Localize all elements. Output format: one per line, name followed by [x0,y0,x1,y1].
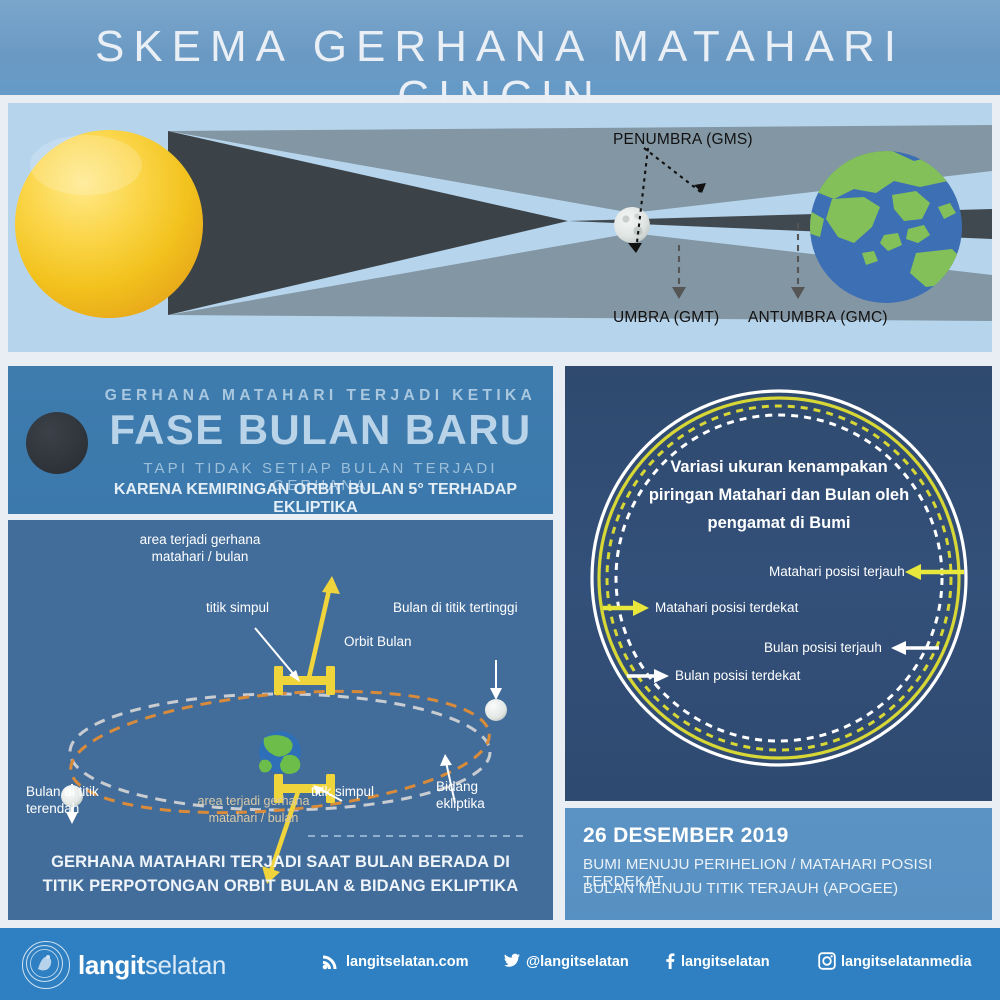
event-date-panel: 26 DESEMBER 2019 BUMI MENUJU PERIHELION … [565,808,992,920]
langitselatan-seal-logo [22,941,70,989]
new-moon-line-4: KARENA KEMIRINGAN ORBIT BULAN 5° TERHADA… [83,481,548,517]
footer-bar: langitselatan langitselatan.com @langits… [0,928,1000,1000]
label-moon-farthest: Bulan posisi terjauh [764,640,882,655]
brand-wordmark: langitselatan [78,950,226,981]
arrowhead-moon-farthest-icon [891,641,906,655]
earth-center-icon [259,731,301,774]
label-moon-nearest: Bulan posisi terdekat [675,668,800,683]
label-umbra: UMBRA (GMT) [613,309,719,327]
event-note-2: BULAN MENUJU TITIK TERJAUH (APOGEE) [583,880,898,897]
brand-bold: langit [78,950,145,980]
eclipse-area-arrowhead-icon [322,576,340,594]
moon-crater-icon [622,215,629,222]
label-eclipse-area-top: area terjadi gerhana matahari / bulan [100,531,300,565]
apparent-size-arrows [603,564,964,683]
node-marker-top [274,666,335,695]
event-date: 26 DESEMBER 2019 [583,824,789,848]
arrowhead-sun-farthest-icon [905,564,921,580]
new-moon-phase-panel: GERHANA MATAHARI TERJADI KETIKA FASE BUL… [8,366,553,514]
infographic-page: SKEMA GERHANA MATAHARI CINCIN [0,0,1000,1000]
footer-link-twitter[interactable]: @langitselatan [526,954,629,970]
label-antumbra: ANTUMBRA (GMC) [748,309,888,327]
rss-icon[interactable] [322,952,340,970]
eclipse-geometry-diagram: PENUMBRA (GMS) UMBRA (GMT) ANTUMBRA (GMC… [8,103,992,352]
arrowhead-sun-nearest-icon [633,600,649,616]
brand-light: selatan [145,950,226,980]
moon-highest-icon [485,699,507,721]
instagram-icon[interactable] [818,952,836,970]
new-moon-icon [26,412,88,474]
moon-icon [614,207,650,243]
label-moon-lowest: Bulan di titik terendah [26,783,99,817]
footer-link-website[interactable]: langitselatan.com [346,954,468,970]
apparent-size-panel: Variasi ukuran kenampakan piringan Matah… [565,366,992,801]
label-orbit-bulan: Orbit Bulan [344,633,412,650]
footer-link-facebook[interactable]: langitselatan [681,954,770,970]
footer-link-instagram[interactable]: langitselatanmedia [841,954,972,970]
new-moon-headline: FASE BULAN BARU [103,404,538,456]
moon-orbit-panel: area terjadi gerhana matahari / bulan ti… [8,520,553,920]
eclipse-area-arrows [270,586,330,874]
twitter-icon[interactable] [503,952,521,970]
facebook-icon[interactable] [661,952,679,970]
sun-highlight-icon [30,135,142,195]
arrowhead-moon-nearest-icon [654,669,669,683]
label-moon-highest: Bulan di titik tertinggi [393,599,518,616]
label-penumbra: PENUMBRA (GMS) [613,131,753,149]
label-eclipse-area-bottom: area terjadi gerhana matahari / bulan [186,793,321,827]
orbit-caption: GERHANA MATAHARI TERJADI SAAT BULAN BERA… [8,850,553,898]
label-sun-farthest: Matahari posisi terjauh [769,564,905,579]
label-sun-nearest: Matahari posisi terdekat [655,600,798,615]
label-ecliptic-plane: Bidang ekliptika [436,778,485,812]
apparent-size-title: Variasi ukuran kenampakan piringan Matah… [605,453,953,537]
header-bar: SKEMA GERHANA MATAHARI CINCIN [0,0,1000,95]
leader-arrowhead-icon [440,754,452,766]
label-node-top: titik simpul [206,599,269,616]
leader-arrowhead-icon [490,688,502,700]
seal-icon [23,942,66,985]
new-moon-line-1: GERHANA MATAHARI TERJADI KETIKA [103,387,538,405]
apparent-size-svg [565,366,992,801]
